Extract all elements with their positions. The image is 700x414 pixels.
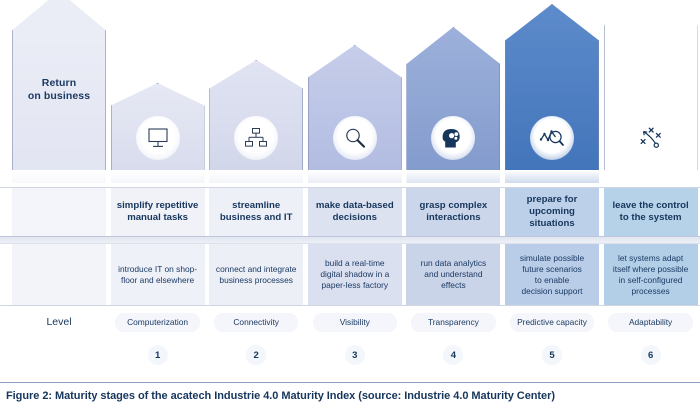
building-block-line3: in self-configured — [613, 275, 688, 286]
objective-line2: manual tasks — [117, 212, 199, 224]
objective-line1: leave the control — [612, 200, 688, 212]
arrow-axis-label: Returnon business — [12, 77, 106, 103]
arrow-reflection — [209, 170, 303, 183]
objective-line1: streamline — [220, 200, 293, 212]
building-block-line4: decision support — [520, 286, 584, 297]
maturity-index-figure: Return on business Objectives Building b… — [0, 0, 700, 414]
objective-line1: make data-based — [316, 200, 394, 212]
building-block-line1: introduce IT on shop- — [118, 264, 197, 275]
arrow-reflection — [308, 170, 402, 183]
stage-column-5: prepare forupcoming situationssimulate p… — [505, 0, 599, 376]
arrow-reflection — [12, 170, 106, 183]
level-cell-2: Connectivity — [209, 311, 303, 333]
level-cell-empty — [12, 311, 106, 333]
level-number-badge-3: 3 — [345, 345, 365, 365]
figure-caption: Figure 2: Maturity stages of the acatech… — [6, 390, 555, 402]
objective-line1: prepare for — [509, 194, 595, 206]
objectives-cell-3: make data-baseddecisions — [308, 188, 402, 236]
building-blocks-cell-4: run data analyticsand understand effects — [406, 244, 500, 305]
building-block-line3: to enable — [520, 275, 584, 286]
objectives-cell-2: streamlinebusiness and IT — [209, 188, 303, 236]
arrow-axis-label-line1: Return — [12, 77, 106, 90]
building-blocks-cell-2: connect and integratebusiness processes — [209, 244, 303, 305]
level-cell-6: Adaptability — [604, 311, 698, 333]
objective-line2: upcoming situations — [509, 206, 595, 230]
objective-line1: simplify repetitive — [117, 200, 199, 212]
building-block-line2: digital shadow in a — [320, 269, 389, 280]
level-pill-5[interactable]: Predictive capacity — [510, 313, 595, 332]
building-block-line2: itself where possible — [613, 264, 688, 275]
objectives-cell-5: prepare forupcoming situations — [505, 188, 599, 236]
level-pill-1[interactable]: Computerization — [115, 313, 200, 332]
building-block-line4: processes — [613, 286, 688, 297]
level-cell-4: Transparency — [406, 311, 500, 333]
stage-column-6: leave the controlto the systemlet system… — [604, 0, 698, 376]
level-cell-5: Predictive capacity — [505, 311, 599, 333]
building-blocks-cell-empty — [12, 244, 106, 305]
stage-column-2: streamlinebusiness and ITconnect and int… — [209, 0, 303, 376]
level-number-badge-2: 2 — [246, 345, 266, 365]
monitor-icon — [136, 116, 180, 160]
level-pill-4[interactable]: Transparency — [411, 313, 496, 332]
building-block-line1: connect and integrate — [216, 264, 297, 275]
level-number-badge-5: 5 — [542, 345, 562, 365]
arrow-axis-label-line2: on business — [12, 90, 106, 103]
arrow-reflection — [406, 170, 500, 183]
objectives-cell-1: simplify repetitivemanual tasks — [111, 188, 205, 236]
stage-column-4: grasp complexinteractionsrun data analyt… — [406, 0, 500, 376]
head-gears-icon — [431, 116, 475, 160]
building-block-line3: paper-less factory — [320, 280, 389, 291]
objective-line2: interactions — [420, 212, 488, 224]
objectives-cell-6: leave the controlto the system — [604, 188, 698, 236]
building-block-line2: floor and elsewhere — [118, 275, 197, 286]
objectives-cell-empty — [12, 188, 106, 236]
objective-line2: business and IT — [220, 212, 293, 224]
objective-line2: to the system — [612, 212, 688, 224]
building-block-line1: build a real-time — [320, 258, 389, 269]
level-pill-6[interactable]: Adaptability — [608, 313, 693, 332]
network-icon — [234, 116, 278, 160]
stage-column-1: simplify repetitivemanual tasksintroduce… — [111, 0, 205, 376]
level-pill-3[interactable]: Visibility — [313, 313, 398, 332]
level-pill-2[interactable]: Connectivity — [214, 313, 299, 332]
objective-line1: grasp complex — [420, 200, 488, 212]
building-block-line2: and understand effects — [411, 269, 495, 291]
building-block-line1: let systems adapt — [613, 253, 688, 264]
objectives-cell-4: grasp complexinteractions — [406, 188, 500, 236]
building-block-line1: simulate possible — [520, 253, 584, 264]
stage-column-3: make data-baseddecisionsbuild a real-tim… — [308, 0, 402, 376]
level-cell-3: Visibility — [308, 311, 402, 333]
caption-rule — [0, 382, 700, 383]
arrow-reflection — [111, 170, 205, 183]
analytics-icon — [530, 116, 574, 160]
level-number-badge-4: 4 — [443, 345, 463, 365]
arrow-reflection — [604, 170, 698, 183]
building-blocks-cell-1: introduce IT on shop-floor and elsewhere — [111, 244, 205, 305]
objective-line2: decisions — [316, 212, 394, 224]
building-block-line2: future scenarios — [520, 264, 584, 275]
arrow-reflection — [505, 170, 599, 183]
building-blocks-cell-5: simulate possiblefuture scenariosto enab… — [505, 244, 599, 305]
building-block-line2: business processes — [216, 275, 297, 286]
building-blocks-cell-3: build a real-timedigital shadow in apape… — [308, 244, 402, 305]
magnifier-icon — [333, 116, 377, 160]
building-block-line1: run data analytics — [411, 258, 495, 269]
strategy-icon — [629, 116, 673, 160]
level-cell-1: Computerization — [111, 311, 205, 333]
level-number-badge-6: 6 — [641, 345, 661, 365]
building-blocks-cell-6: let systems adaptitself where possiblein… — [604, 244, 698, 305]
axis-column-return-on-business: Returnon business — [12, 0, 106, 376]
level-number-badge-1: 1 — [148, 345, 168, 365]
